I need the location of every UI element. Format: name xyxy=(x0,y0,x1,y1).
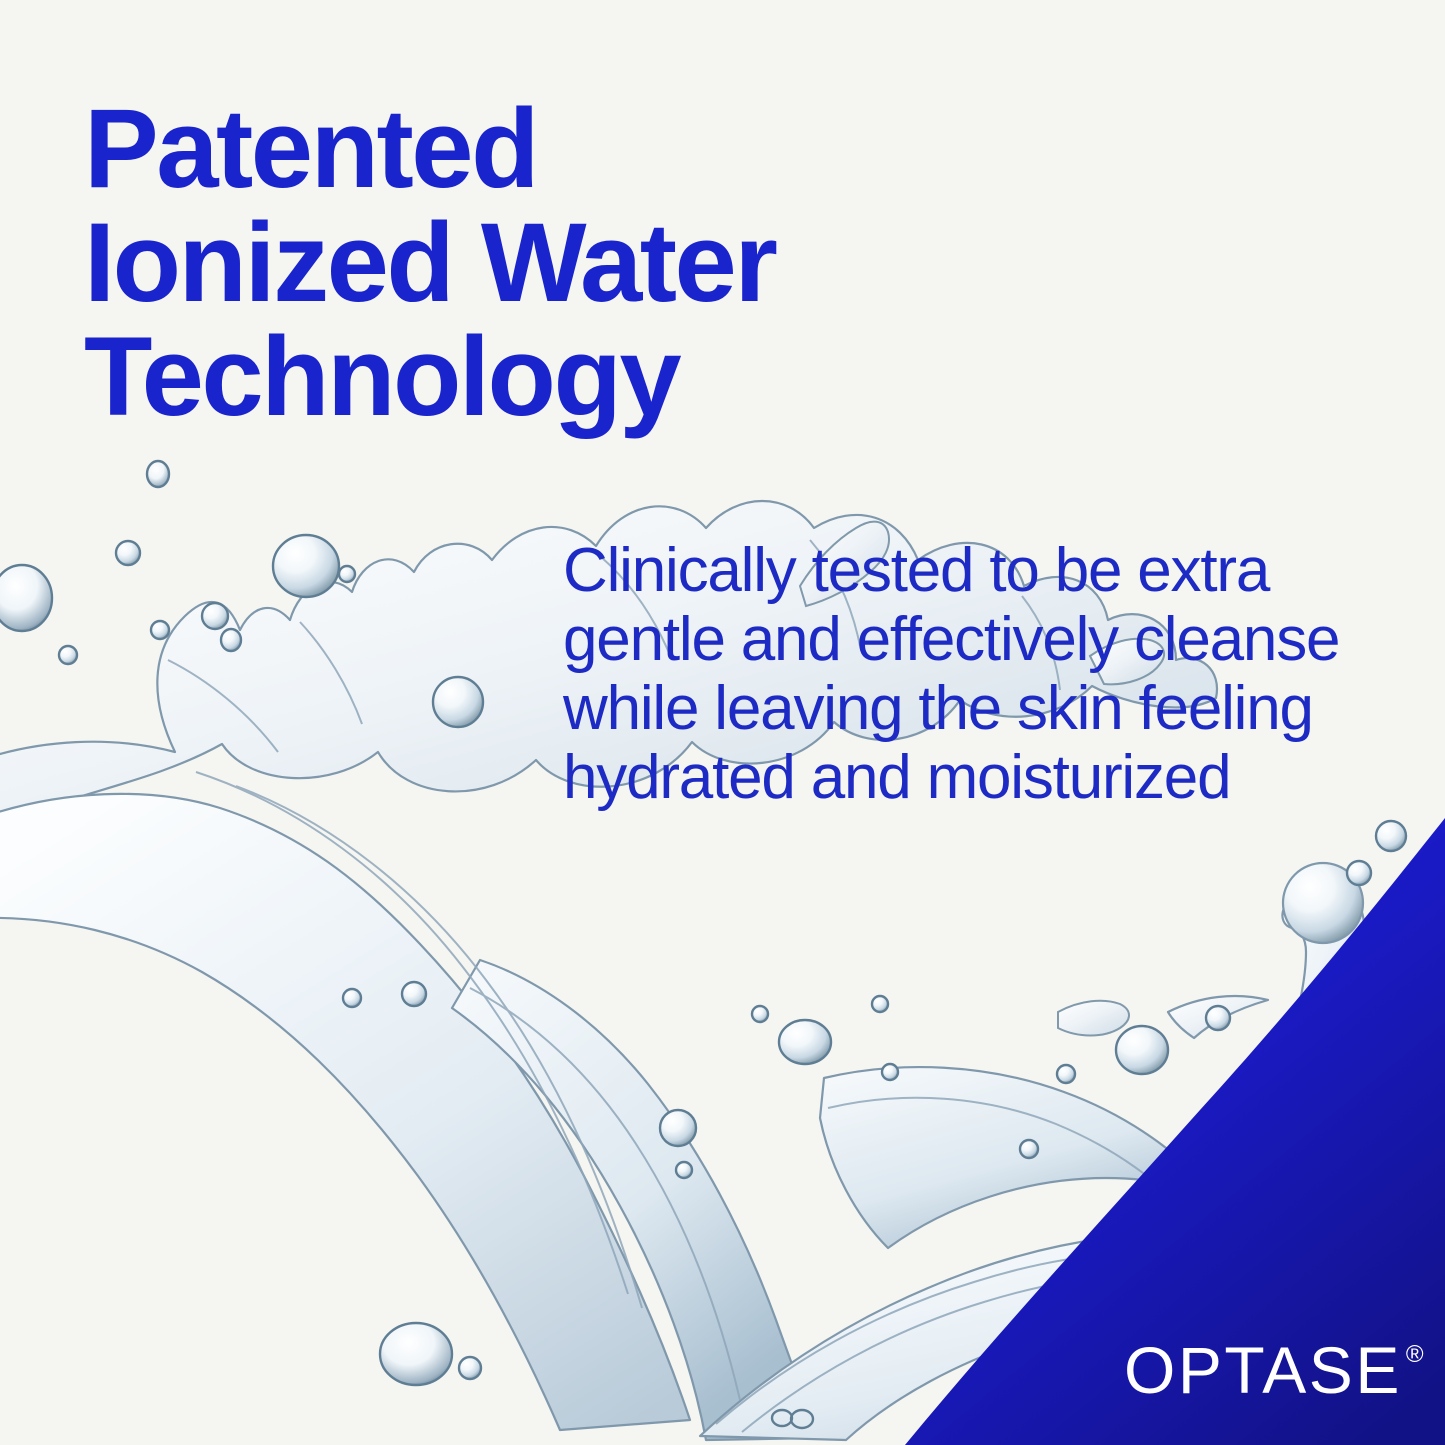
brand-name: OPTASE xyxy=(1124,1337,1402,1403)
description-text: Clinically tested to be extra gentle and… xyxy=(563,536,1393,812)
brand-logo: OPTASE ® xyxy=(1124,1337,1424,1403)
promo-banner: Patented Ionized Water Technology Clinic… xyxy=(0,0,1445,1445)
registered-trademark-icon: ® xyxy=(1406,1341,1424,1369)
page-title: Patented Ionized Water Technology xyxy=(84,92,775,434)
